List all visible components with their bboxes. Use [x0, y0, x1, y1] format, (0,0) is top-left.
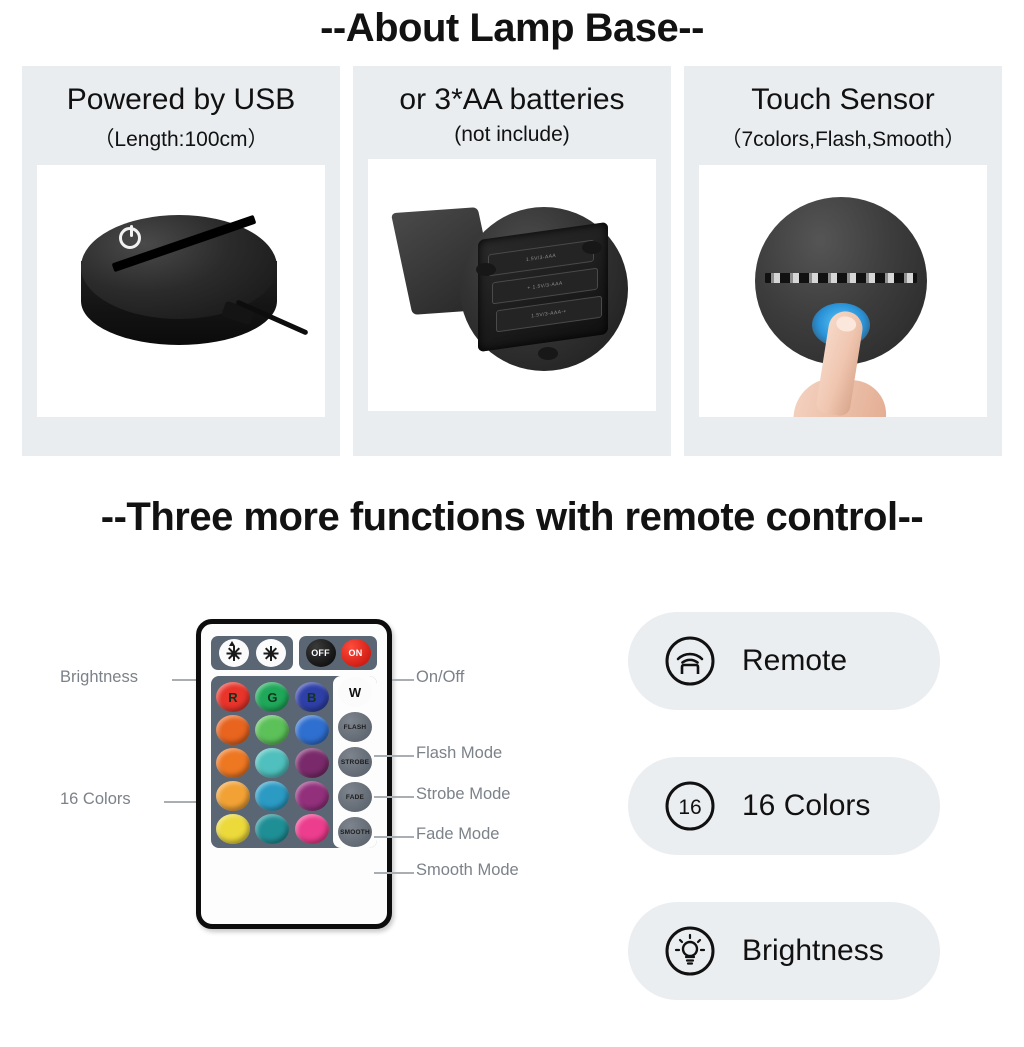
color-button-10[interactable] [216, 781, 250, 811]
color-button-11[interactable] [255, 781, 289, 811]
feature-label: 16 Colors [742, 789, 870, 823]
remote-top-row: OFF ON [211, 636, 377, 670]
label-16-colors: 16 Colors [60, 790, 131, 809]
brightness-down-button[interactable] [256, 639, 286, 667]
label-smooth-mode: Smooth Mode [416, 861, 519, 880]
card-title: Powered by USB [67, 82, 295, 117]
page-title-lamp-base: --About Lamp Base-- [0, 6, 1024, 51]
remote-signal-icon [664, 635, 716, 687]
smooth-button[interactable]: SMOOTH [338, 817, 372, 847]
label-on-off: On/Off [416, 668, 464, 687]
feature-pill-list: Remote 16 16 Colors Brightness [628, 612, 940, 1047]
color-button-6[interactable] [295, 715, 329, 745]
sixteen-circle-icon: 16 [664, 780, 716, 832]
card-powered-by-usb: Powered by USB （Length:100cm） [22, 66, 340, 456]
mode-button-strip: W FLASH STROBE FADE SMOOTH [333, 676, 377, 848]
feature-pill-brightness[interactable]: Brightness [628, 902, 940, 1000]
brightness-group [211, 636, 293, 670]
label-brightness: Brightness [60, 668, 138, 687]
strobe-button[interactable]: STROBE [338, 747, 372, 777]
lamp-base-card-row: Powered by USB （Length:100cm） or 3*AA ba… [22, 66, 1002, 456]
label-flash-mode: Flash Mode [416, 744, 502, 763]
white-button[interactable]: W [338, 677, 372, 707]
leader-line-strobe [374, 796, 414, 798]
color-button-g[interactable]: G [255, 682, 289, 712]
label-strobe-mode: Strobe Mode [416, 785, 510, 804]
feature-label: Remote [742, 644, 847, 678]
card-subtitle: （7colors,Flash,Smooth） [720, 123, 965, 153]
feature-pill-remote[interactable]: Remote [628, 612, 940, 710]
svg-text:16: 16 [678, 796, 701, 819]
section-title-remote-functions: --Three more functions with remote contr… [0, 495, 1024, 540]
touch-sensor-photo [699, 165, 987, 417]
color-button-12[interactable] [295, 781, 329, 811]
card-title: Touch Sensor [751, 82, 934, 117]
card-subtitle: （Length:100cm） [93, 123, 268, 153]
flash-button[interactable]: FLASH [338, 712, 372, 742]
sun-up-icon [227, 647, 240, 660]
remote-control-body: OFF ON R G B [196, 619, 392, 929]
battery-compartment-photo: 1.5V/3-AAA + 1.5V/3-AAA 1.5V/3-AAA-+ [368, 159, 656, 411]
card-touch-sensor: Touch Sensor （7colors,Flash,Smooth） [684, 66, 1002, 456]
leader-line-flash [374, 755, 414, 757]
off-button[interactable]: OFF [306, 639, 336, 667]
sensor-led-strip [765, 273, 917, 283]
leader-line-smooth [374, 872, 414, 874]
color-button-8[interactable] [255, 748, 289, 778]
label-fade-mode: Fade Mode [416, 825, 499, 844]
card-subtitle: (not include) [454, 123, 570, 147]
feature-label: Brightness [742, 934, 884, 968]
infographic-page: --About Lamp Base-- Powered by USB （Leng… [0, 0, 1024, 1024]
color-button-4[interactable] [216, 715, 250, 745]
leader-line-16-colors [164, 801, 198, 803]
feature-pill-16-colors[interactable]: 16 16 Colors [628, 757, 940, 855]
leader-line-on-off [392, 679, 414, 681]
leader-line-fade [374, 836, 414, 838]
color-button-7[interactable] [216, 748, 250, 778]
color-button-5[interactable] [255, 715, 289, 745]
color-button-grid: R G B [216, 682, 330, 842]
color-button-15[interactable] [295, 814, 329, 844]
brightness-up-button[interactable] [219, 639, 249, 667]
color-button-9[interactable] [295, 748, 329, 778]
bulb-brightness-icon [664, 925, 716, 977]
fade-button[interactable]: FADE [338, 782, 372, 812]
color-button-b[interactable]: B [295, 682, 329, 712]
usb-lamp-base-photo [37, 165, 325, 417]
card-title: or 3*AA batteries [399, 82, 624, 117]
on-button[interactable]: ON [341, 639, 371, 667]
card-aa-batteries: or 3*AA batteries (not include) 1.5V/3-A… [353, 66, 671, 456]
power-group: OFF ON [299, 636, 377, 670]
leader-line-brightness [172, 679, 198, 681]
sun-icon [264, 647, 277, 660]
color-button-13[interactable] [216, 814, 250, 844]
color-button-r[interactable]: R [216, 682, 250, 712]
color-button-14[interactable] [255, 814, 289, 844]
